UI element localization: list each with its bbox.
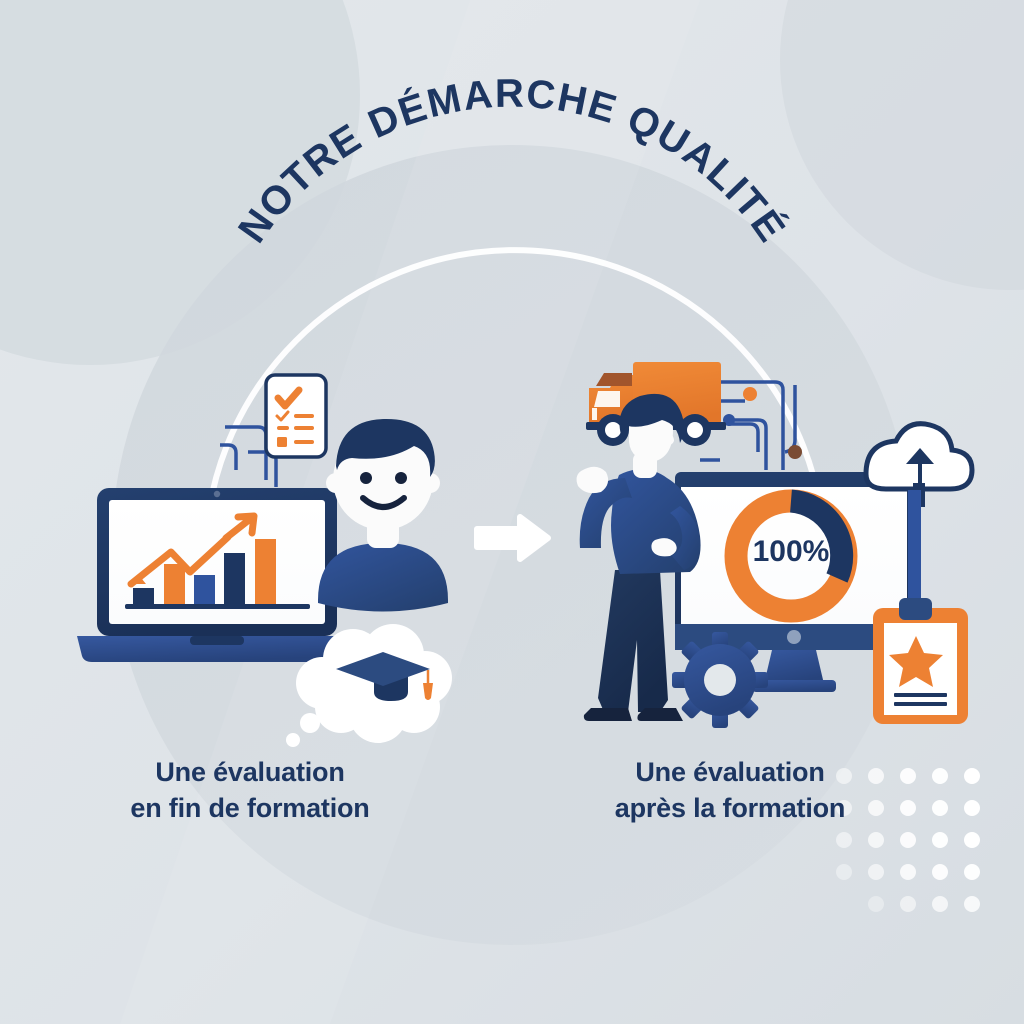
left-scene-caption: Une évaluation en fin de formation [40, 754, 460, 827]
poster-canvas: NOTRE DÉMARCHE QUALITÉ [0, 0, 1024, 1024]
right-scene-caption: Une évaluation après la formation [520, 754, 940, 827]
dot-grid-pattern [0, 0, 1024, 1024]
donut-center-label: 100% [731, 535, 851, 569]
